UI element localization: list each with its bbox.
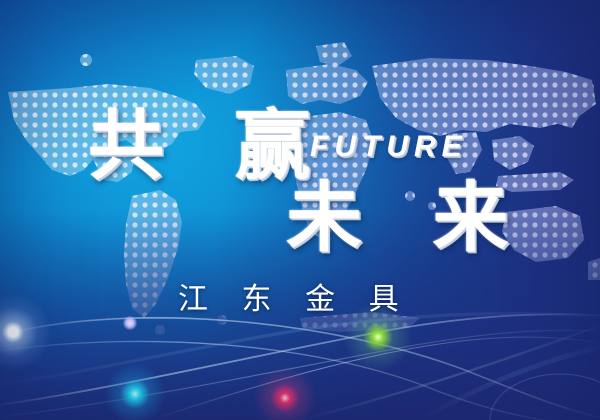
headline-line-two: 未 来 xyxy=(286,180,530,256)
banner-text-layer: 共 赢 FUTURE 未 来 江 东 金 具 xyxy=(0,0,600,420)
headline-english-future: FUTURE xyxy=(310,130,468,164)
promo-banner: 共 赢 FUTURE 未 来 江 东 金 具 xyxy=(0,0,600,420)
brand-name-label: 江 东 金 具 xyxy=(178,274,411,318)
